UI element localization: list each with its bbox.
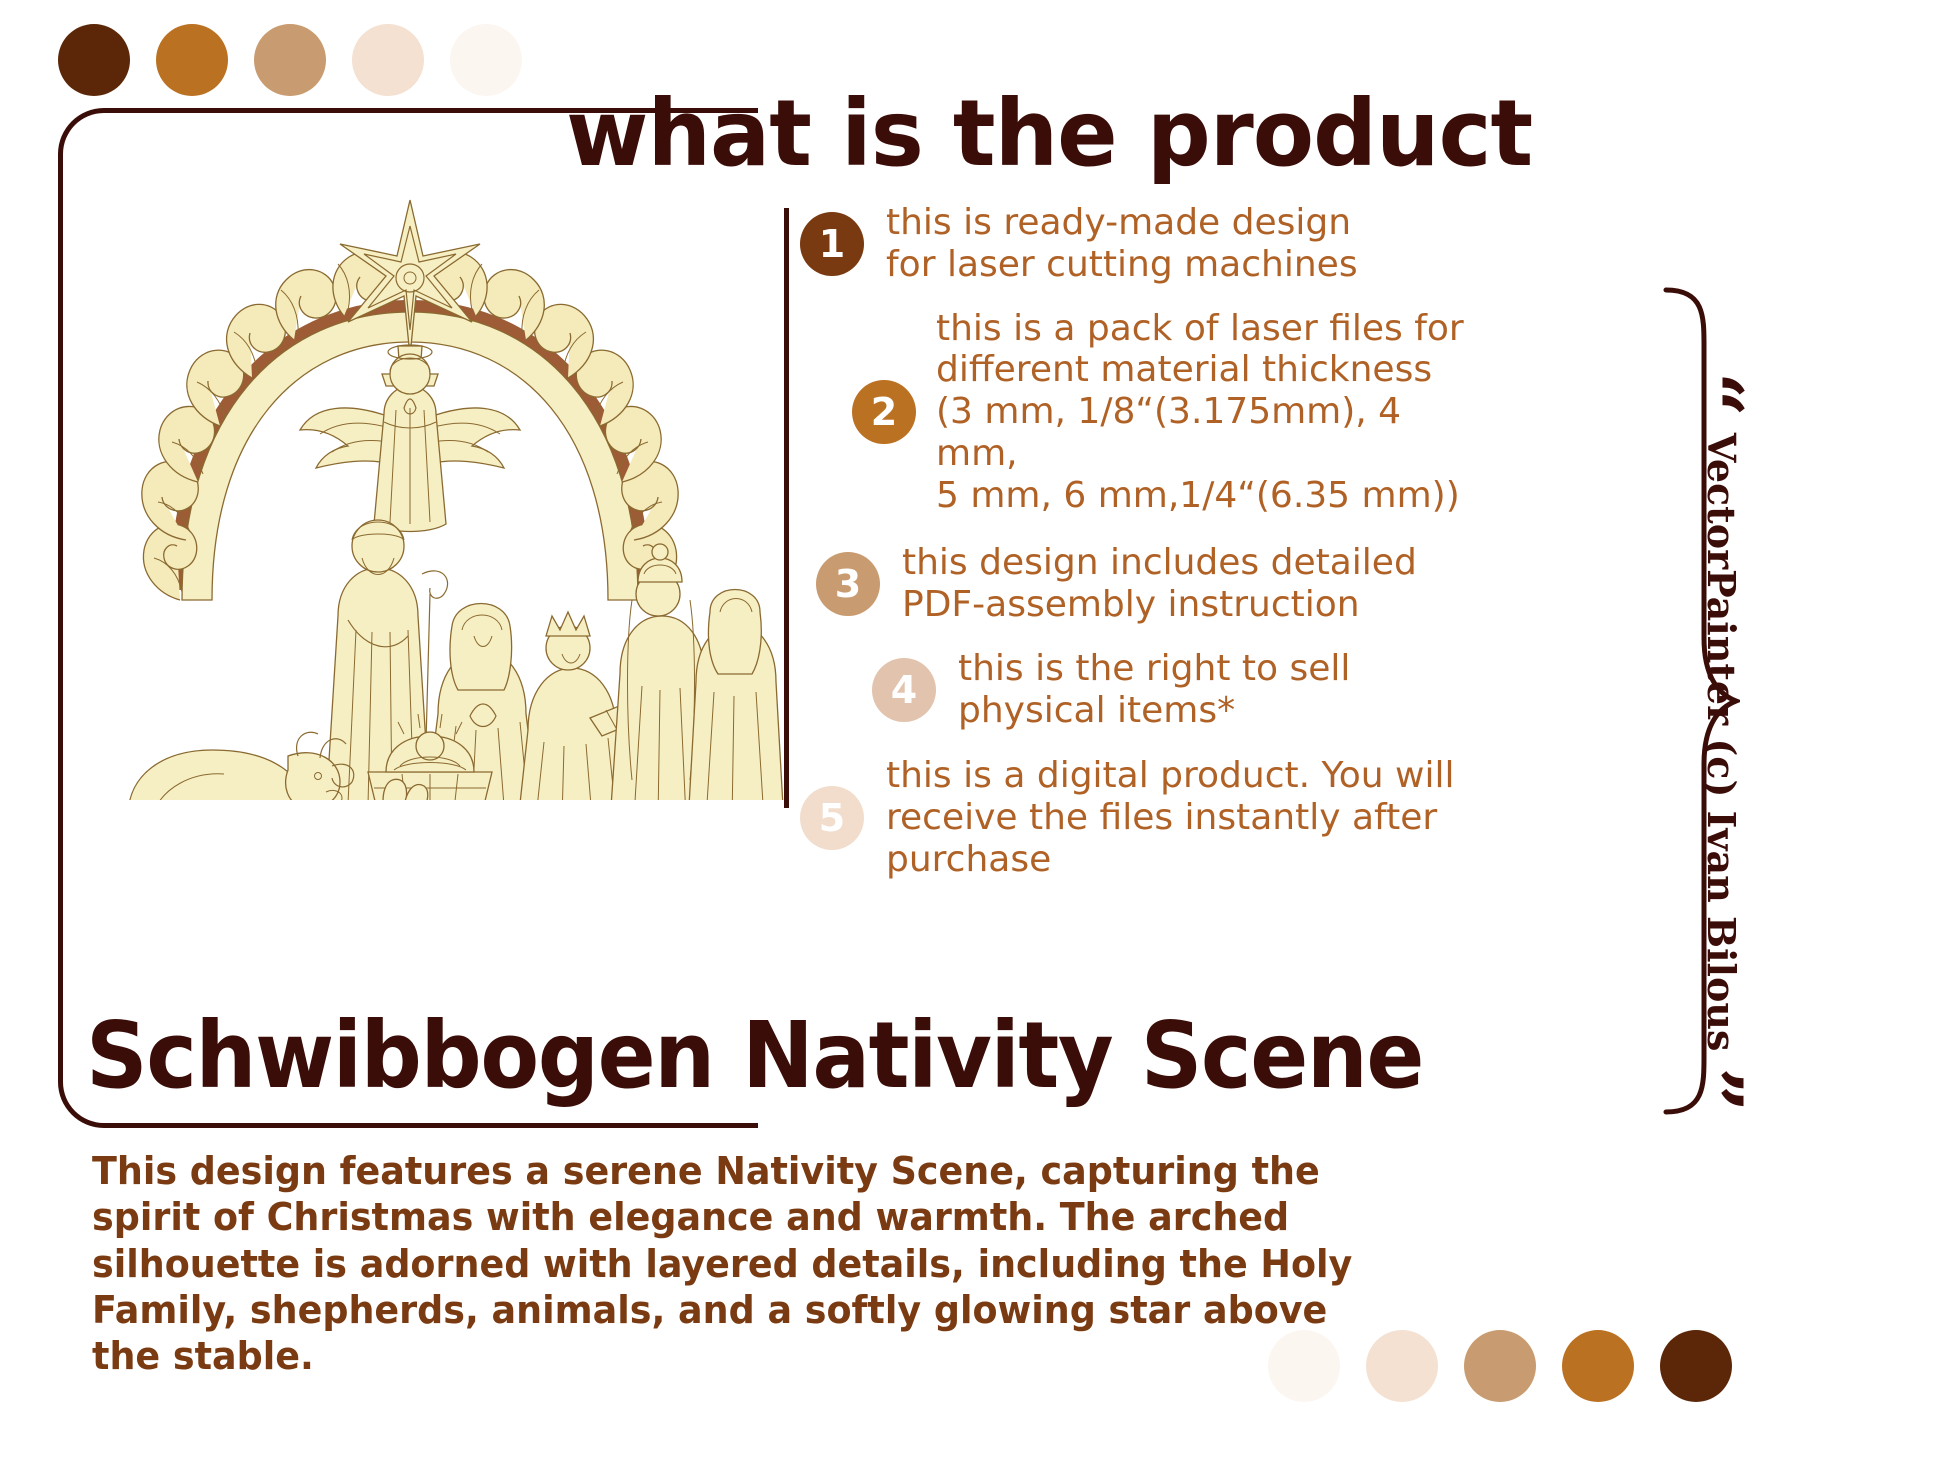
color-palette-bottom	[1268, 1330, 1732, 1402]
close-quote-icon: ”	[1695, 1067, 1734, 1112]
credit-text: VectorPainter (c) Ivan Bilous	[1700, 433, 1745, 1051]
swatch-tan	[254, 24, 326, 96]
swatch-light-peach	[352, 24, 424, 96]
list-item-text-5: this is a digital product. You will rece…	[886, 755, 1454, 880]
product-description: This design features a serene Nativity S…	[92, 1148, 1378, 1380]
list-badge-1: 1	[800, 212, 864, 276]
schwibbogen-nativity-scene-illustration: .wood { fill:#F7EFC4; stroke:#8A6A30; st…	[30, 160, 790, 800]
list-item-text-1: this is ready-made design for laser cutt…	[886, 202, 1358, 286]
list-badge-2: 2	[852, 380, 916, 444]
list-item[interactable]: 3 this design includes detailed PDF-asse…	[816, 542, 1490, 626]
list-item[interactable]: 4 this is the right to sell physical ite…	[872, 648, 1490, 732]
swatch-cream	[1268, 1330, 1340, 1402]
list-item-text-3: this design includes detailed PDF-assemb…	[902, 542, 1417, 626]
product-title: Schwibbogen Nativity Scene	[86, 1010, 1369, 1102]
list-item[interactable]: 2 this is a pack of laser files for diff…	[852, 308, 1490, 517]
feature-list: 1 this is ready-made design for laser cu…	[800, 196, 1490, 895]
swatch-cream	[450, 24, 522, 96]
swatch-orange-brown	[156, 24, 228, 96]
swatch-light-peach	[1366, 1330, 1438, 1402]
open-quote-icon: “	[1695, 372, 1734, 417]
list-badge-4: 4	[872, 658, 936, 722]
list-item-text-2: this is a pack of laser files for differ…	[936, 308, 1490, 517]
poster-canvas: what is the product .wood { fill:#F7EFC4…	[0, 0, 1946, 1460]
list-badge-3: 3	[816, 552, 880, 616]
swatch-orange-brown	[1562, 1330, 1634, 1402]
list-item[interactable]: 5 this is a digital product. You will re…	[800, 755, 1490, 880]
swatch-dark-brown	[58, 24, 130, 96]
list-badge-5: 5	[800, 786, 864, 850]
list-vertical-rule	[784, 208, 789, 808]
swatch-tan	[1464, 1330, 1536, 1402]
color-palette-top	[58, 24, 522, 96]
credit-watermark: “ VectorPainter (c) Ivan Bilous ”	[1692, 372, 1752, 1072]
list-item-text-4: this is the right to sell physical items…	[958, 648, 1350, 732]
list-item[interactable]: 1 this is ready-made design for laser cu…	[800, 202, 1490, 286]
swatch-dark-brown	[1660, 1330, 1732, 1402]
